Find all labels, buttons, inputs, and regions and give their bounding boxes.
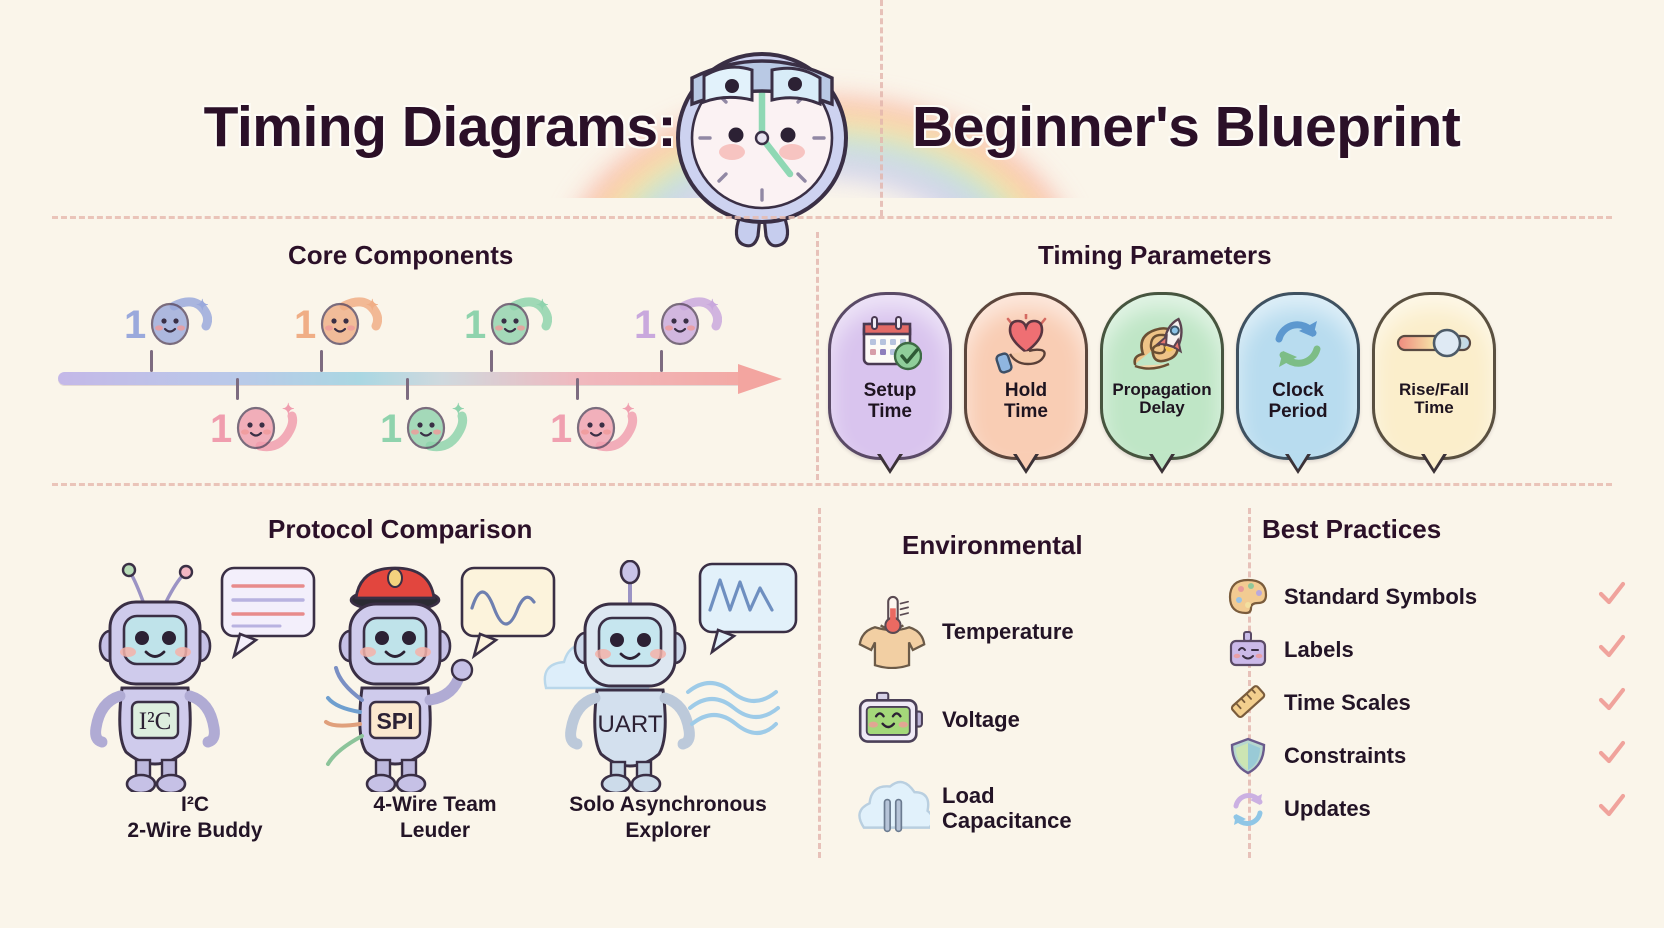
check-icon	[1592, 634, 1632, 665]
svg-text:✦: ✦	[282, 401, 295, 418]
timing-parameter-bubble-1[interactable]: Setup Time	[828, 292, 952, 460]
title-left-text: Timing Diagrams:	[204, 94, 676, 160]
timeline-digit-marker: 1✦	[372, 392, 468, 468]
environmental-item-temperature: Temperature	[852, 588, 1152, 676]
best-practice-item-1[interactable]: Standard Symbols	[1222, 570, 1632, 623]
svg-text:1: 1	[380, 407, 402, 451]
timeline-digit-marker: 1✦	[286, 288, 382, 364]
sweater-thermometer-icon	[852, 595, 932, 669]
refresh-cycle-icon	[1267, 313, 1329, 375]
pulse-wave-bubble-icon	[700, 564, 796, 652]
snail-rocket-icon	[1129, 313, 1195, 375]
lines-bubble-icon	[222, 568, 314, 656]
title-right-text: Beginner's Blueprint	[912, 94, 1460, 160]
svg-text:✦: ✦	[452, 401, 465, 418]
robot-i2c: I²C I²C 2-Wire Buddy	[70, 560, 320, 797]
timing-parameter-label: Hold Time	[1004, 381, 1048, 422]
battery-smile-icon	[852, 691, 932, 749]
svg-text:1: 1	[550, 407, 572, 451]
svg-text:1: 1	[464, 303, 486, 347]
divider-middle	[52, 483, 1612, 486]
timing-parameter-bubble-4[interactable]: Clock Period	[1236, 292, 1360, 460]
divider-header-vertical	[880, 0, 883, 216]
heading-timing-parameters: Timing Parameters	[1038, 240, 1272, 271]
timing-parameter-label: Setup Time	[864, 381, 917, 422]
check-icon	[1592, 687, 1632, 718]
heading-environmental: Environmental	[902, 530, 1083, 561]
svg-text:1: 1	[124, 303, 146, 347]
best-practice-label: Labels	[1284, 637, 1592, 663]
environmental-label-voltage: Voltage	[942, 707, 1020, 732]
environmental-list: Temperature Voltage	[852, 588, 1152, 852]
hand-heart-icon	[994, 313, 1058, 375]
palette-icon	[1222, 578, 1274, 616]
cloud-capacitor-icon	[852, 779, 932, 837]
check-icon	[1592, 581, 1632, 612]
svg-text:1: 1	[210, 407, 232, 451]
environmental-item-load-capacitance: Load Capacitance	[852, 764, 1152, 852]
shield-icon	[1222, 737, 1274, 775]
timing-parameter-bubble-3[interactable]: Propagation Delay	[1100, 292, 1224, 460]
timeline-bar	[58, 372, 744, 385]
best-practice-item-3[interactable]: Time Scales	[1222, 676, 1632, 729]
timing-parameter-label: Clock Period	[1268, 381, 1327, 422]
svg-text:✦: ✦	[536, 297, 549, 314]
robot-uart: UART Solo Asynchronous Explorer	[540, 560, 790, 797]
svg-text:✦: ✦	[706, 297, 719, 314]
svg-text:✦: ✦	[622, 401, 635, 418]
robot-chest-label-3: UART	[598, 711, 663, 738]
divider-lower-vertical-left	[818, 508, 821, 858]
timing-parameter-bubble-2[interactable]: Hold Time	[964, 292, 1088, 460]
best-practice-item-2[interactable]: Labels	[1222, 623, 1632, 676]
svg-text:✦: ✦	[196, 297, 209, 314]
timeline-arrow-icon	[738, 364, 782, 394]
name-badge-icon	[1222, 631, 1274, 669]
timeline-digit-marker: 1✦	[626, 288, 722, 364]
heading-core-components: Core Components	[288, 240, 513, 271]
environmental-label-temperature: Temperature	[942, 619, 1074, 644]
environmental-label-load-capacitance: Load Capacitance	[942, 783, 1072, 834]
robot-spi: SPI 4-Wire Team Leuder	[310, 560, 560, 797]
poster-canvas: Timing Diagrams: Beginner's Blueprint	[0, 0, 1664, 928]
wireless-waves-icon	[688, 683, 778, 733]
best-practice-label: Updates	[1284, 796, 1592, 822]
timing-parameter-bubbles: Setup TimeHold TimePropagation DelayCloc…	[828, 292, 1496, 460]
divider-upper-vertical	[816, 232, 819, 480]
timeline-digit-marker: 1✦	[542, 392, 638, 468]
check-icon	[1592, 740, 1632, 771]
best-practices-list: Standard SymbolsLabelsTime ScalesConstra…	[1222, 570, 1632, 835]
environmental-item-voltage: Voltage	[852, 676, 1152, 764]
refresh-icon	[1222, 790, 1274, 828]
best-practice-label: Constraints	[1284, 743, 1592, 769]
slider-gradient-icon	[1396, 313, 1472, 375]
bubble-tail	[1152, 453, 1172, 469]
check-icon	[1592, 793, 1632, 824]
timeline-digit-marker: 1✦	[456, 288, 552, 364]
robot-chest-label-2: SPI	[376, 708, 413, 734]
heading-protocol-comparison: Protocol Comparison	[268, 514, 532, 545]
bubble-tail	[880, 453, 900, 469]
robot-caption-1: I²C 2-Wire Buddy	[70, 792, 320, 843]
ruler-icon	[1222, 684, 1274, 722]
timing-parameter-label: Rise/Fall Time	[1399, 381, 1469, 418]
robot-caption-3: Solo Asynchronous Explorer	[528, 792, 808, 843]
best-practice-item-4[interactable]: Constraints	[1222, 729, 1632, 782]
bubble-tail	[1016, 453, 1036, 469]
bubble-tail	[1424, 453, 1444, 469]
timeline-digit-marker: 1✦	[116, 288, 212, 364]
svg-text:✦: ✦	[366, 297, 379, 314]
bubble-tail	[1288, 453, 1308, 469]
protocol-robots: I²C I²C 2-Wire Buddy	[70, 560, 810, 860]
heading-best-practices: Best Practices	[1262, 514, 1441, 545]
best-practice-label: Standard Symbols	[1284, 584, 1592, 610]
best-practice-label: Time Scales	[1284, 690, 1592, 716]
divider-top	[52, 216, 1612, 219]
svg-text:1: 1	[294, 303, 316, 347]
robot-caption-2: 4-Wire Team Leuder	[310, 792, 560, 843]
robot-chest-label-1: I²C	[139, 708, 172, 735]
svg-text:1: 1	[634, 303, 656, 347]
timing-parameter-bubble-5[interactable]: Rise/Fall Time	[1372, 292, 1496, 460]
timing-parameter-label: Propagation Delay	[1112, 381, 1211, 418]
timeline-digit-marker: 1✦	[202, 392, 298, 468]
calendar-check-icon	[858, 313, 922, 375]
best-practice-item-5[interactable]: Updates	[1222, 782, 1632, 835]
